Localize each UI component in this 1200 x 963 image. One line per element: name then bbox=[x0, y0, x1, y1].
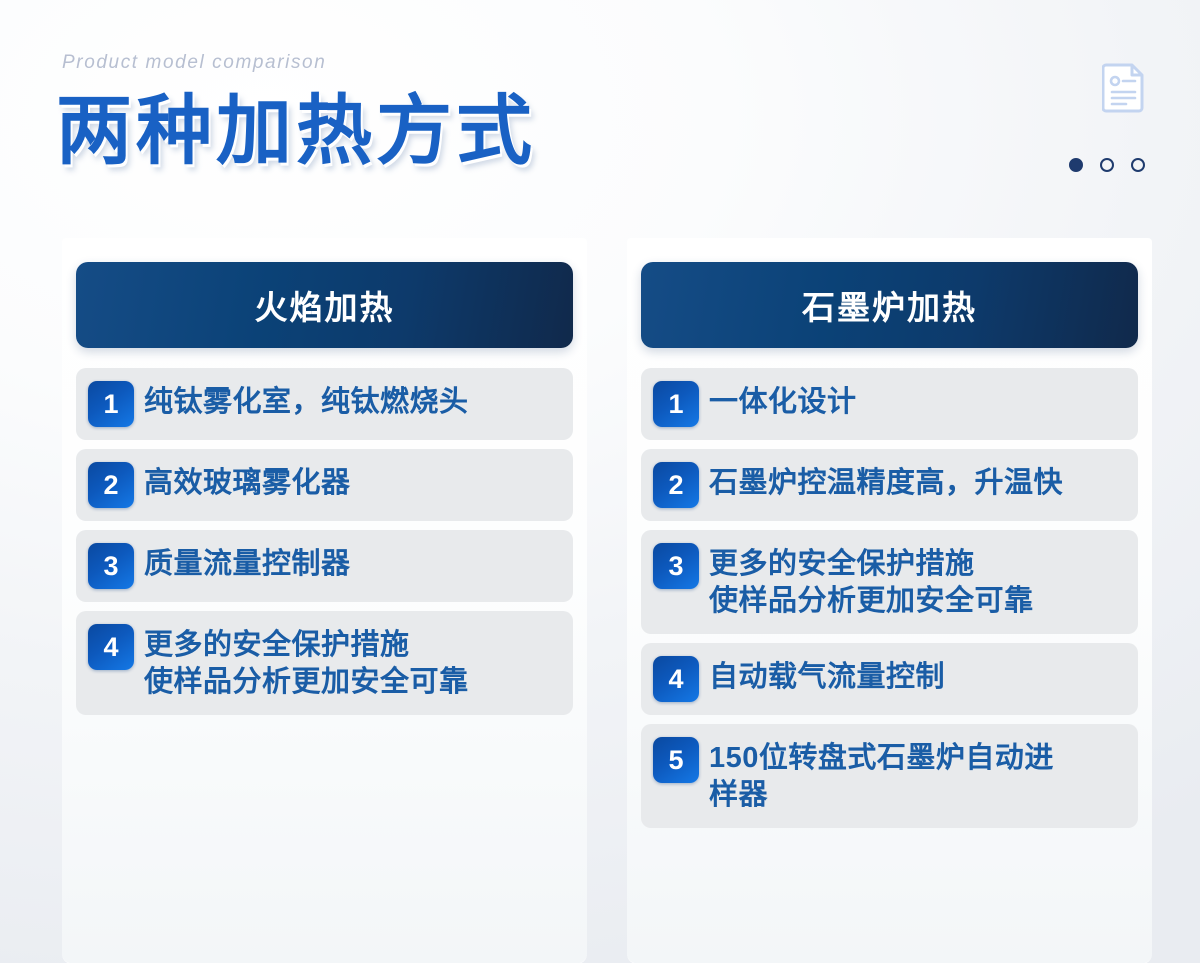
list-item[interactable]: 4 更多的安全保护措施 使样品分析更加安全可靠 bbox=[76, 611, 573, 715]
pagination-dot-2[interactable] bbox=[1100, 158, 1114, 172]
list-item[interactable]: 1 一体化设计 bbox=[641, 368, 1138, 440]
item-label: 高效玻璃雾化器 bbox=[144, 462, 351, 502]
page-title: 两种加热方式 bbox=[56, 90, 536, 174]
document-icon bbox=[1102, 62, 1146, 114]
item-number-badge: 3 bbox=[88, 543, 134, 589]
item-label: 石墨炉控温精度高，升温快 bbox=[709, 462, 1063, 502]
slide-header: Product model comparison 两种加热方式 bbox=[0, 0, 1200, 230]
item-label: 自动载气流量控制 bbox=[709, 656, 945, 696]
item-number-badge: 4 bbox=[653, 656, 699, 702]
comparison-columns: 火焰加热 1 纯钛雾化室，纯钛燃烧头 2 高效玻璃雾化器 3 质量流量控制器 4… bbox=[62, 238, 1152, 963]
list-item[interactable]: 3 更多的安全保护措施 使样品分析更加安全可靠 bbox=[641, 530, 1138, 634]
item-number-badge: 4 bbox=[88, 624, 134, 670]
item-number-badge: 1 bbox=[88, 381, 134, 427]
item-label: 150位转盘式石墨炉自动进 样器 bbox=[709, 737, 1054, 814]
pagination-dots[interactable] bbox=[1069, 158, 1145, 172]
pagination-dot-3[interactable] bbox=[1131, 158, 1145, 172]
item-number-badge: 2 bbox=[653, 462, 699, 508]
column-graphite-furnace-heating: 石墨炉加热 1 一体化设计 2 石墨炉控温精度高，升温快 3 更多的安全保护措施… bbox=[627, 238, 1152, 963]
list-item[interactable]: 5 150位转盘式石墨炉自动进 样器 bbox=[641, 724, 1138, 828]
item-label: 更多的安全保护措施 使样品分析更加安全可靠 bbox=[709, 543, 1034, 620]
list-item[interactable]: 4 自动载气流量控制 bbox=[641, 643, 1138, 715]
item-number-badge: 2 bbox=[88, 462, 134, 508]
column-title-graphite: 石墨炉加热 bbox=[802, 281, 977, 329]
eyebrow-label: Product model comparison bbox=[62, 52, 326, 74]
item-label: 质量流量控制器 bbox=[144, 543, 351, 583]
column-header-graphite: 石墨炉加热 bbox=[641, 262, 1138, 348]
item-number-badge: 5 bbox=[653, 737, 699, 783]
column-header-flame: 火焰加热 bbox=[76, 262, 573, 348]
pagination-dot-1[interactable] bbox=[1069, 158, 1083, 172]
item-label: 一体化设计 bbox=[709, 381, 857, 421]
list-item[interactable]: 2 石墨炉控温精度高，升温快 bbox=[641, 449, 1138, 521]
list-item[interactable]: 3 质量流量控制器 bbox=[76, 530, 573, 602]
item-label: 纯钛雾化室，纯钛燃烧头 bbox=[144, 381, 469, 421]
column-flame-heating: 火焰加热 1 纯钛雾化室，纯钛燃烧头 2 高效玻璃雾化器 3 质量流量控制器 4… bbox=[62, 238, 587, 963]
item-label: 更多的安全保护措施 使样品分析更加安全可靠 bbox=[144, 624, 469, 701]
list-item[interactable]: 1 纯钛雾化室，纯钛燃烧头 bbox=[76, 368, 573, 440]
list-item[interactable]: 2 高效玻璃雾化器 bbox=[76, 449, 573, 521]
feature-list-graphite: 1 一体化设计 2 石墨炉控温精度高，升温快 3 更多的安全保护措施 使样品分析… bbox=[641, 368, 1138, 828]
feature-list-flame: 1 纯钛雾化室，纯钛燃烧头 2 高效玻璃雾化器 3 质量流量控制器 4 更多的安… bbox=[76, 368, 573, 715]
item-number-badge: 1 bbox=[653, 381, 699, 427]
item-number-badge: 3 bbox=[653, 543, 699, 589]
column-title-flame: 火焰加热 bbox=[255, 281, 395, 329]
